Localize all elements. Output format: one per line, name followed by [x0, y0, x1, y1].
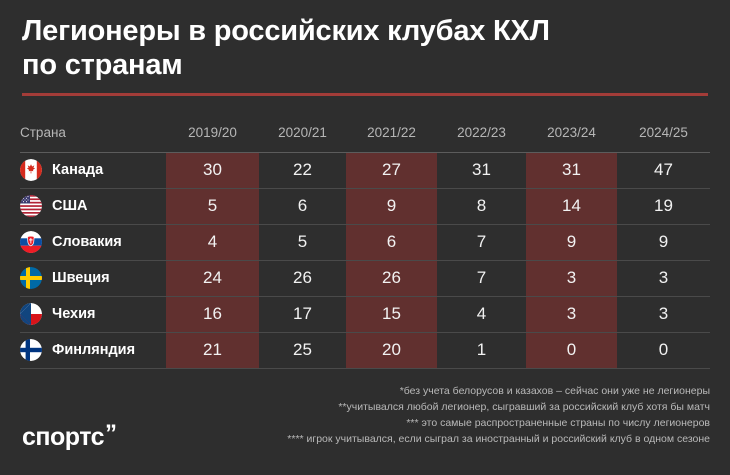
row-separator: [20, 188, 710, 189]
value-cell: 0: [526, 340, 617, 360]
value-cell: 7: [437, 232, 526, 252]
value-cell: 14: [526, 196, 617, 216]
logo-text: спортс: [22, 424, 104, 450]
flag-finland-icon: [20, 339, 42, 361]
value-cell: 7: [437, 268, 526, 288]
country-name: Словакия: [52, 234, 122, 250]
value-cell: 15: [346, 304, 437, 324]
value-cell: 30: [166, 160, 259, 180]
value-cell: 5: [259, 232, 346, 252]
value-cell: 21: [166, 340, 259, 360]
page-title: Легионеры в российских клубах КХЛ по стр…: [22, 14, 712, 82]
flag-slovakia-icon: [20, 231, 42, 253]
value-cell: 3: [526, 304, 617, 324]
column-header-country: Страна: [0, 125, 166, 140]
value-cell: 17: [259, 304, 346, 324]
value-cell: 31: [526, 160, 617, 180]
value-cell: 6: [259, 196, 346, 216]
value-cell: 22: [259, 160, 346, 180]
row-separator: [20, 332, 710, 333]
country-cell: Чехия: [0, 303, 166, 325]
table-body: Канада 30 22 27 31 31 47: [0, 152, 730, 368]
column-header-2019-20: 2019/20: [166, 125, 259, 140]
row-separator: [20, 260, 710, 261]
table-row[interactable]: Финляндия 21 25 20 1 0 0: [0, 332, 730, 368]
column-header-2022-23: 2022/23: [437, 125, 526, 140]
country-name: Швеция: [52, 270, 110, 286]
table-header-row: Страна 2019/20 2020/21 2021/22 2022/23 2…: [0, 113, 730, 152]
value-cell: 9: [617, 232, 710, 252]
flag-canada-icon: [20, 159, 42, 181]
logo-mark: ”: [105, 424, 117, 444]
value-cell: 0: [617, 340, 710, 360]
value-cell: 19: [617, 196, 710, 216]
value-cell: 4: [437, 304, 526, 324]
footnote-2: **учитывался любой легионер, сыгравший з…: [150, 399, 710, 415]
country-name: Чехия: [52, 306, 96, 322]
value-cell: 6: [346, 232, 437, 252]
legionnaires-table: Страна 2019/20 2020/21 2021/22 2022/23 2…: [0, 113, 730, 368]
footnote-1: *без учета белорусов и казахов – сейчас …: [150, 383, 710, 399]
country-name: США: [52, 198, 88, 214]
table-bottom-separator: [20, 368, 710, 369]
country-cell: Канада: [0, 159, 166, 181]
column-header-2023-24: 2023/24: [526, 125, 617, 140]
value-cell: 3: [617, 304, 710, 324]
row-separator: [20, 296, 710, 297]
flag-czechia-icon: [20, 303, 42, 325]
footnote-3: *** это самые распространенные страны по…: [150, 415, 710, 431]
value-cell: 26: [259, 268, 346, 288]
value-cell: 27: [346, 160, 437, 180]
table-row[interactable]: США 5 6 9 8 14 19: [0, 188, 730, 224]
value-cell: 9: [526, 232, 617, 252]
value-cell: 31: [437, 160, 526, 180]
table-row[interactable]: Чехия 16 17 15 4 3 3: [0, 296, 730, 332]
country-name: Финляндия: [52, 342, 135, 358]
header-separator: [20, 152, 710, 153]
footnote-4: **** игрок учитывался, если сыграл за ин…: [150, 431, 710, 447]
value-cell: 16: [166, 304, 259, 324]
value-cell: 20: [346, 340, 437, 360]
value-cell: 47: [617, 160, 710, 180]
row-separator: [20, 224, 710, 225]
table-row[interactable]: Швеция 24 26 26 7 3 3: [0, 260, 730, 296]
country-cell: Финляндия: [0, 339, 166, 361]
value-cell: 9: [346, 196, 437, 216]
country-cell: США: [0, 195, 166, 217]
value-cell: 26: [346, 268, 437, 288]
sports-ru-logo[interactable]: спортс ”: [22, 424, 117, 450]
column-header-2024-25: 2024/25: [617, 125, 710, 140]
flag-usa-icon: [20, 195, 42, 217]
country-name: Канада: [52, 162, 103, 178]
page-header: Легионеры в российских клубах КХЛ по стр…: [22, 14, 712, 82]
column-header-2020-21: 2020/21: [259, 125, 346, 140]
footnotes: *без учета белорусов и казахов – сейчас …: [150, 383, 710, 447]
flag-sweden-icon: [20, 267, 42, 289]
value-cell: 24: [166, 268, 259, 288]
value-cell: 4: [166, 232, 259, 252]
title-divider: [22, 93, 708, 96]
value-cell: 25: [259, 340, 346, 360]
value-cell: 1: [437, 340, 526, 360]
table-row[interactable]: Словакия 4 5 6 7 9 9: [0, 224, 730, 260]
table-row[interactable]: Канада 30 22 27 31 31 47: [0, 152, 730, 188]
value-cell: 8: [437, 196, 526, 216]
country-cell: Швеция: [0, 267, 166, 289]
column-header-2021-22: 2021/22: [346, 125, 437, 140]
country-cell: Словакия: [0, 231, 166, 253]
value-cell: 3: [617, 268, 710, 288]
value-cell: 3: [526, 268, 617, 288]
value-cell: 5: [166, 196, 259, 216]
